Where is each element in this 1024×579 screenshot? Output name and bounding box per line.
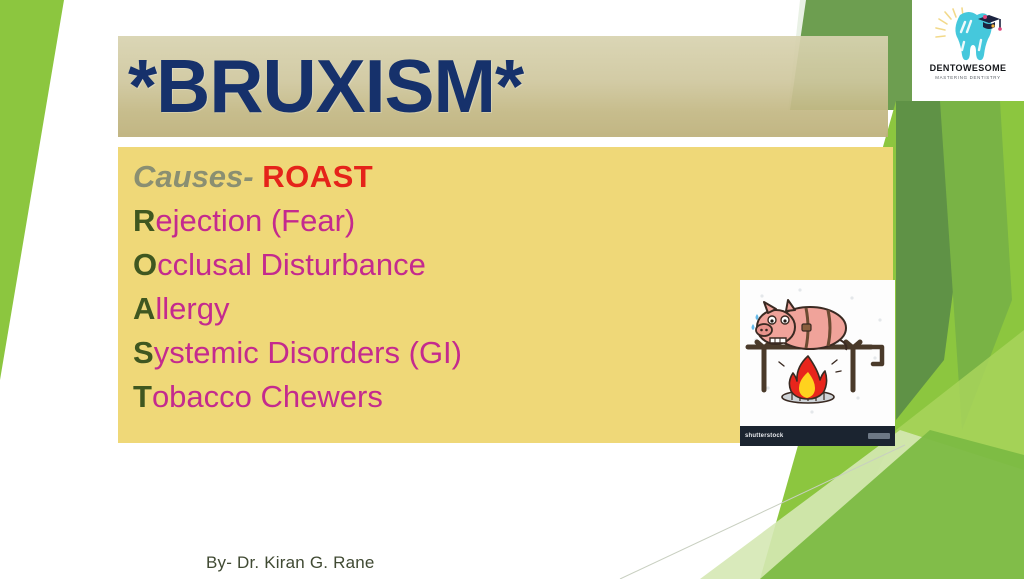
- logo-tagline: MASTERING DENTISTRY: [935, 75, 1000, 80]
- byline: By- Dr. Kiran G. Rane: [206, 553, 375, 573]
- list-item: Systemic Disorders (GI): [133, 331, 773, 375]
- watermark-logo-icon: [868, 433, 890, 439]
- list-item: Allergy: [133, 287, 773, 331]
- list-item: Tobacco Chewers: [133, 375, 773, 419]
- list-item: Rejection (Fear): [133, 199, 773, 243]
- pig-roast-illustration: shutterstock: [740, 280, 895, 446]
- causes-heading: Causes- ROAST: [133, 155, 773, 199]
- list-item-label: llergy: [155, 291, 229, 326]
- list-item-label: cclusal Disturbance: [157, 247, 426, 282]
- list-item: Occlusal Disturbance: [133, 243, 773, 287]
- list-item-label: obacco Chewers: [152, 379, 383, 414]
- tooth-icon: [931, 6, 1005, 62]
- brand-logo: DENTOWESOME MASTERING DENTISTRY: [912, 0, 1024, 101]
- page-title: *BRUXISM*: [128, 34, 888, 138]
- mnemonic-word: ROAST: [262, 159, 373, 194]
- pig-roast-drawing: [740, 280, 895, 426]
- mnemonic-list: Causes- ROAST Rejection (Fear) Occlusal …: [133, 155, 773, 419]
- logo-name: DENTOWESOME: [930, 63, 1007, 73]
- stock-watermark-bar: shutterstock: [740, 426, 895, 446]
- mnemonic-letter: O: [133, 247, 157, 282]
- list-item-label: ystemic Disorders (GI): [154, 335, 462, 370]
- slide-canvas: *BRUXISM* Causes- ROAST Rejection (Fear)…: [0, 0, 1024, 579]
- causes-label: Causes-: [133, 159, 254, 194]
- mnemonic-letter: A: [133, 291, 155, 326]
- left-green-wedge: [0, 0, 64, 380]
- watermark-label: shutterstock: [745, 433, 783, 439]
- mnemonic-letter: R: [133, 203, 155, 238]
- mnemonic-letter: S: [133, 335, 154, 370]
- mnemonic-letter: T: [133, 379, 152, 414]
- list-item-label: ejection (Fear): [155, 203, 355, 238]
